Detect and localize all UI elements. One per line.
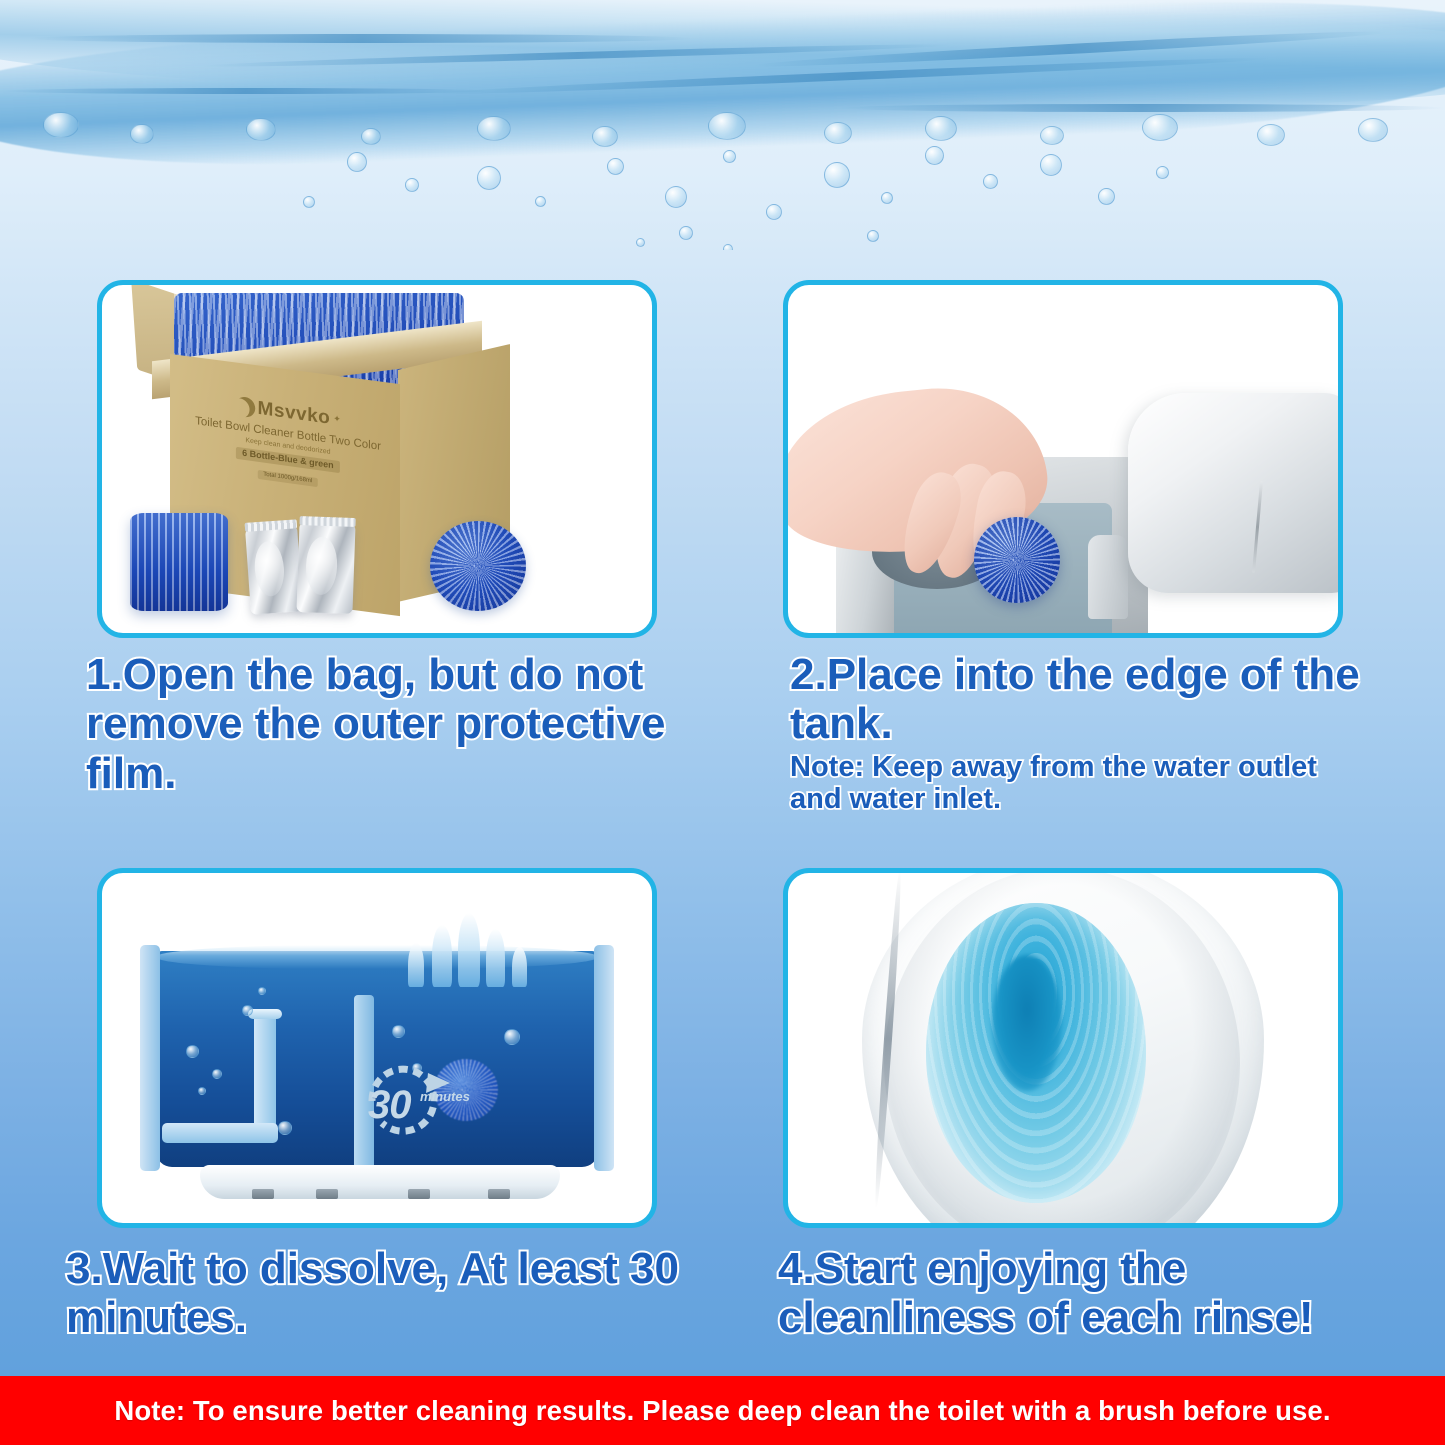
tablet-held-in-hand <box>974 517 1060 603</box>
crescent-logo-icon <box>233 395 259 419</box>
water-splash-header-image <box>0 0 1445 250</box>
bowl-blue-water <box>926 903 1146 1203</box>
step-4-image-panel <box>783 868 1343 1228</box>
base-bolt-1 <box>252 1189 274 1199</box>
timer-unit-label: minutes <box>420 1089 470 1104</box>
water-splash-crown <box>402 909 542 987</box>
step-2-image-panel <box>783 280 1343 638</box>
bottom-note-banner: Note: To ensure better cleaning results.… <box>0 1376 1445 1445</box>
tank-wall-left <box>140 945 160 1171</box>
water-vortex <box>992 955 1062 1091</box>
step-3-caption: 3.Wait to dissolve, At least 30 minutes. <box>66 1244 726 1343</box>
base-bolt-3 <box>408 1189 430 1199</box>
step-2-note-text: Note: Keep away from the water outlet an… <box>790 751 1360 816</box>
sparkle-icon: ✦ <box>333 415 341 425</box>
foil-sachet-2 <box>296 522 355 614</box>
tablet-round-right <box>430 521 526 611</box>
bottom-note-text: Note: To ensure better cleaning results.… <box>114 1395 1330 1427</box>
timer-30-minutes-icon: 30 minutes <box>358 1057 476 1143</box>
foil-sachet-1 <box>245 525 303 614</box>
tablet-cylinder-left <box>130 513 228 611</box>
step-3-caption-text: 3.Wait to dissolve, At least 30 minutes. <box>66 1244 679 1342</box>
base-bolt-4 <box>488 1189 510 1199</box>
tank-wall-right <box>594 945 614 1171</box>
toilet-tank-lid <box>1128 393 1338 593</box>
fill-pipe-cap <box>248 1009 282 1019</box>
step-2-caption: 2.Place into the edge of the tank. Note:… <box>790 650 1360 815</box>
fill-pipe-horizontal <box>162 1123 278 1143</box>
fill-pipe-vertical <box>254 1013 276 1137</box>
timer-number: 30 <box>368 1083 411 1128</box>
base-bolt-2 <box>316 1189 338 1199</box>
step-4-caption: 4.Start enjoying the cleanliness of each… <box>778 1244 1378 1343</box>
step-2-caption-text: 2.Place into the edge of the tank. <box>790 650 1360 748</box>
step-3-image-panel: 30 minutes <box>97 868 657 1228</box>
step-1-caption-text: 1.Open the bag, but do not remove the ou… <box>86 650 666 798</box>
overflow-tube-icon <box>1088 535 1128 619</box>
step-4-caption-text: 4.Start enjoying the cleanliness of each… <box>778 1244 1314 1342</box>
step-1-image-panel: Msvvko ✦ Toilet Bowl Cleaner Bottle Two … <box>97 280 657 638</box>
step-1-caption: 1.Open the bag, but do not remove the ou… <box>86 650 726 798</box>
